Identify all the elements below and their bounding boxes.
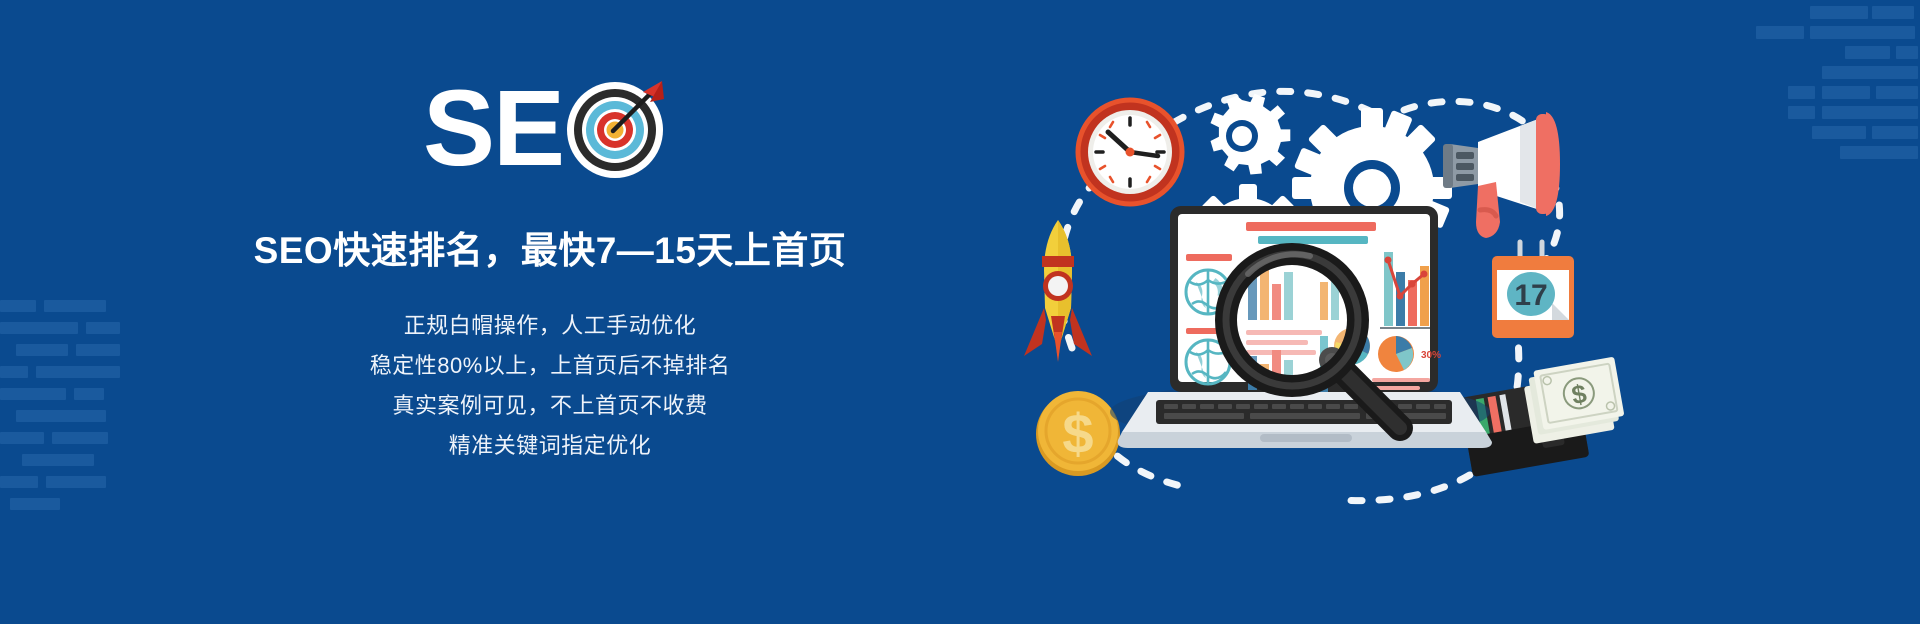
banner-text-column: SE SEO快速排名，最快7 [230, 75, 870, 495]
seo-promo-banner: SE SEO快速排名，最快7 [0, 0, 1920, 624]
clock-icon [1078, 100, 1182, 204]
bullseye-target-icon [565, 76, 669, 180]
feature-item: 稳定性80%以上，上首页后不掉排名 [230, 346, 870, 386]
seo-logo: SE [222, 75, 870, 180]
feature-item: 正规白帽操作，人工手动优化 [230, 306, 870, 346]
calendar-day-label: 17 [1514, 279, 1547, 312]
seo-logo-letters: SE [423, 74, 563, 182]
megaphone-icon [1443, 112, 1560, 238]
feature-item: 真实案例可见，不上首页不收费 [230, 386, 870, 426]
calendar-icon: 17 [1492, 242, 1574, 338]
feature-list: 正规白帽操作，人工手动优化 稳定性80%以上，上首页后不掉排名 真实案例可见，不… [230, 306, 870, 466]
pie-percentage-label: 30% [1421, 350, 1441, 361]
page-title: SEO快速排名，最快7—15天上首页 [230, 220, 870, 274]
coin-icon: $ [1036, 391, 1120, 476]
feature-item: 精准关键词指定优化 [230, 426, 870, 466]
seo-illustration: $ [980, 60, 1700, 560]
svg-text:$: $ [1062, 402, 1093, 465]
rocket-icon [1024, 220, 1092, 362]
